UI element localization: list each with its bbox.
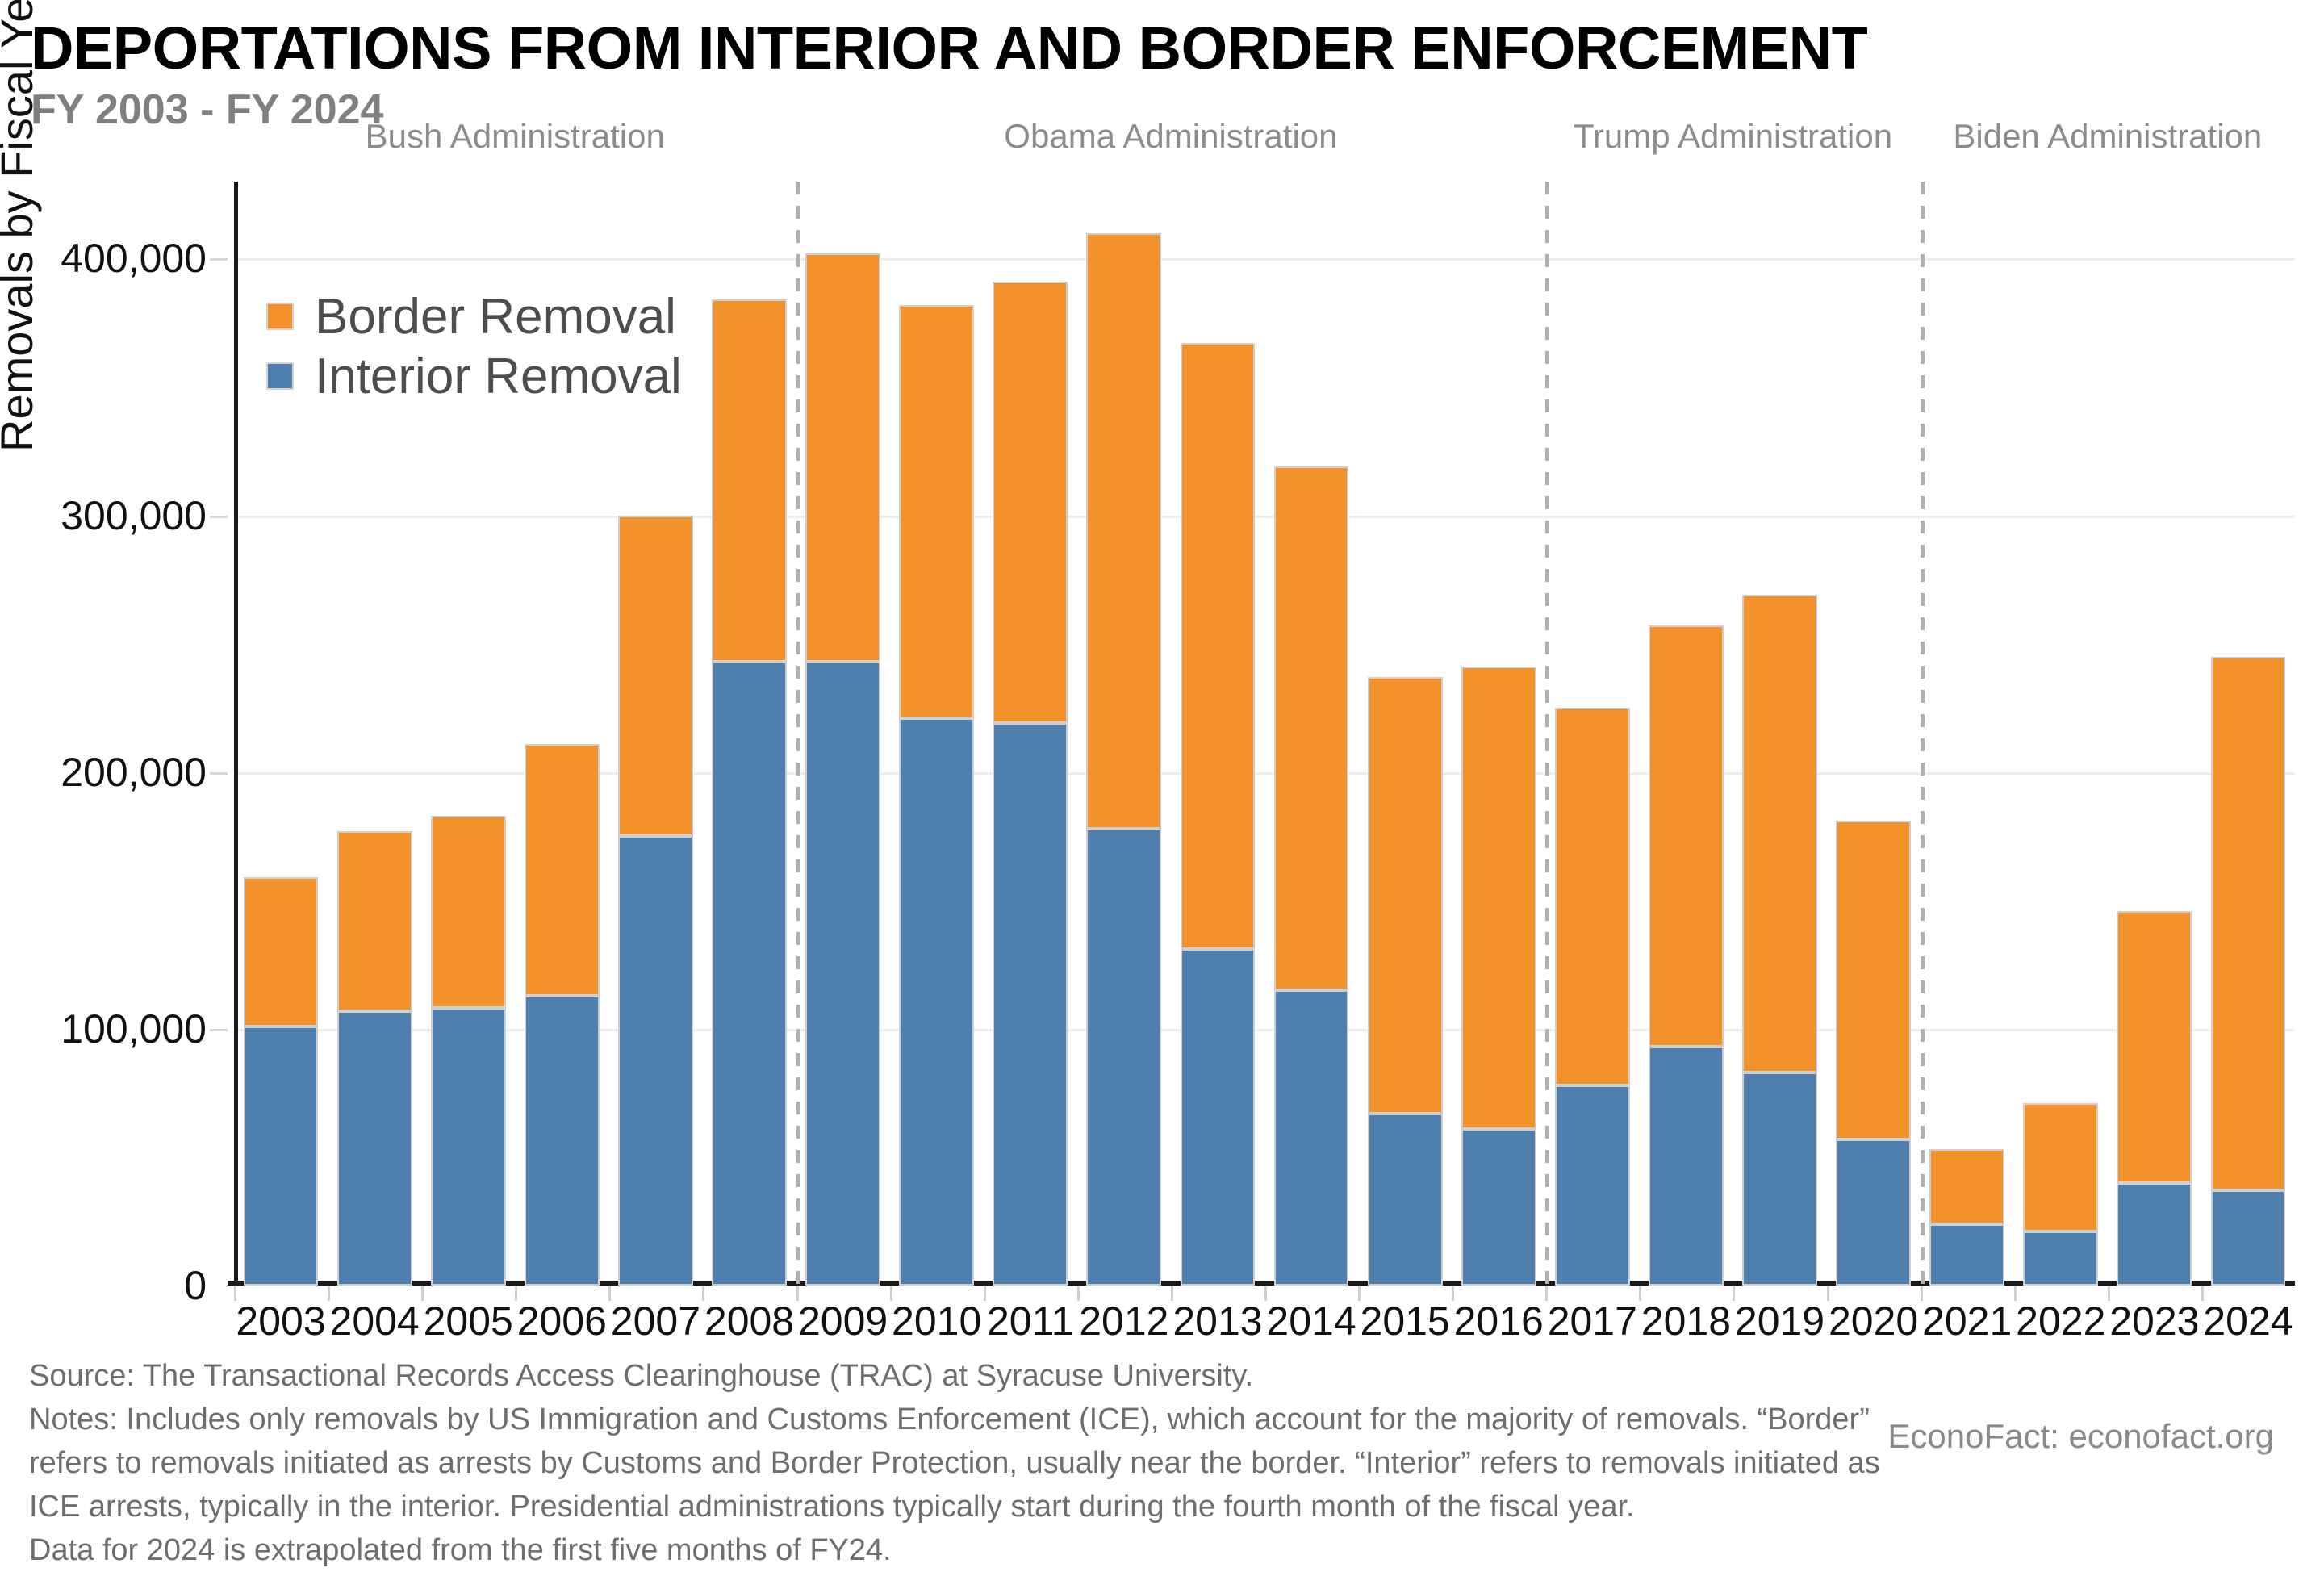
x-axis-tick-mark	[1921, 1286, 1923, 1301]
bar-group-2003[interactable]	[244, 877, 319, 1286]
bar-segment-interior-2007[interactable]	[618, 836, 693, 1286]
bar-group-2009[interactable]	[805, 253, 880, 1286]
bar-segment-interior-2016[interactable]	[1461, 1129, 1536, 1286]
bar-group-2014[interactable]	[1274, 466, 1349, 1286]
legend-item-interior[interactable]: Interior Removal	[266, 346, 682, 406]
bar-segment-interior-2019[interactable]	[1742, 1072, 1817, 1286]
x-axis-label-2008: 2008	[704, 1298, 794, 1344]
bar-segment-border-2021[interactable]	[1929, 1149, 2004, 1223]
bar-segment-border-2023[interactable]	[2117, 911, 2192, 1183]
chart-header: DEPORTATIONS FROM INTERIOR AND BORDER EN…	[31, 15, 2290, 136]
bar-segment-border-2005[interactable]	[431, 816, 506, 1009]
bar-group-2015[interactable]	[1368, 677, 1443, 1286]
x-axis-label-2014: 2014	[1266, 1298, 1356, 1344]
legend-label: Border Removal	[315, 288, 676, 345]
bar-segment-interior-2013[interactable]	[1181, 949, 1256, 1286]
y-axis-tick-mark	[210, 1029, 228, 1031]
x-axis-labels: 2003200420052006200720082009201020112012…	[234, 1298, 2295, 1346]
bar-segment-border-2006[interactable]	[525, 744, 600, 996]
x-axis-tick-mark	[1639, 1286, 1641, 1301]
bar-segment-border-2003[interactable]	[244, 877, 319, 1026]
bar-group-2020[interactable]	[1836, 821, 1911, 1286]
y-axis-title: Removals by Fiscal Year	[0, 0, 43, 452]
x-axis-tick-mark	[1077, 1286, 1080, 1301]
legend-swatch-interior-icon	[266, 362, 294, 390]
page-title: DEPORTATIONS FROM INTERIOR AND BORDER EN…	[31, 15, 2290, 82]
bar-group-2013[interactable]	[1181, 343, 1256, 1286]
y-axis-tick-label: 400,000	[61, 235, 207, 282]
bar-segment-interior-2006[interactable]	[525, 996, 600, 1286]
x-axis-tick-mark	[2108, 1286, 2110, 1301]
bar-segment-border-2007[interactable]	[618, 516, 693, 837]
x-axis-label-2005: 2005	[424, 1298, 513, 1344]
x-axis-label-2017: 2017	[1548, 1298, 1637, 1344]
bar-segment-interior-2015[interactable]	[1368, 1114, 1443, 1286]
bar-segment-border-2011[interactable]	[993, 282, 1068, 723]
bar-group-2023[interactable]	[2117, 911, 2192, 1286]
bar-segment-interior-2021[interactable]	[1929, 1224, 2004, 1286]
x-axis-label-2010: 2010	[892, 1298, 981, 1344]
bar-segment-interior-2011[interactable]	[993, 723, 1068, 1286]
x-axis-tick-mark	[890, 1286, 892, 1301]
x-axis-label-2020: 2020	[1829, 1298, 1918, 1344]
x-axis-label-2007: 2007	[611, 1298, 700, 1344]
bar-group-2005[interactable]	[431, 816, 506, 1286]
x-axis-tick-mark	[1452, 1286, 1454, 1301]
x-axis-label-2009: 2009	[798, 1298, 888, 1344]
bar-group-2022[interactable]	[2023, 1103, 2098, 1286]
x-axis-tick-mark	[1264, 1286, 1267, 1301]
bar-group-2024[interactable]	[2211, 657, 2286, 1286]
bar-group-2008[interactable]	[712, 299, 787, 1286]
x-axis-tick-mark	[421, 1286, 424, 1301]
chart-subtitle: FY 2003 - FY 2024	[31, 84, 2290, 136]
footer-line-1: Source: The Transactional Records Access…	[29, 1354, 1885, 1398]
bar-segment-interior-2017[interactable]	[1555, 1085, 1630, 1286]
bar-segment-interior-2020[interactable]	[1836, 1139, 1911, 1286]
footer-line-3: Data for 2024 is extrapolated from the f…	[29, 1528, 1885, 1572]
bar-segment-border-2009[interactable]	[805, 253, 880, 662]
x-axis-tick-mark	[1171, 1286, 1173, 1301]
y-axis-tick-mark	[210, 258, 228, 261]
x-axis-tick-mark	[702, 1286, 704, 1301]
bar-group-2016[interactable]	[1461, 667, 1536, 1286]
bar-group-2012[interactable]	[1086, 233, 1161, 1286]
bar-segment-interior-2010[interactable]	[899, 718, 974, 1286]
x-axis-label-2015: 2015	[1361, 1298, 1450, 1344]
bar-segment-interior-2008[interactable]	[712, 662, 787, 1286]
bar-segment-interior-2005[interactable]	[431, 1008, 506, 1286]
bar-group-2011[interactable]	[993, 282, 1068, 1286]
legend-swatch-border-icon	[266, 303, 294, 330]
x-axis-label-2013: 2013	[1172, 1298, 1262, 1344]
footer-notes: Source: The Transactional Records Access…	[29, 1354, 1885, 1572]
x-axis-label-2024: 2024	[2203, 1298, 2293, 1344]
bar-segment-border-2013[interactable]	[1181, 343, 1256, 949]
bar-group-2007[interactable]	[618, 516, 693, 1286]
x-axis-tick-mark	[1545, 1286, 1548, 1301]
bar-group-2006[interactable]	[525, 744, 600, 1286]
legend-label: Interior Removal	[315, 348, 682, 405]
x-axis-label-2016: 2016	[1454, 1298, 1544, 1344]
y-axis-tick-mark	[210, 516, 228, 518]
x-axis-label-2018: 2018	[1641, 1298, 1731, 1344]
x-axis-tick-mark	[608, 1286, 611, 1301]
bar-segment-interior-2018[interactable]	[1649, 1047, 1724, 1286]
footer-line-2: Notes: Includes only removals by US Immi…	[29, 1398, 1885, 1528]
bar-group-2004[interactable]	[337, 831, 412, 1286]
bar-segment-border-2017[interactable]	[1555, 708, 1630, 1085]
x-axis-tick-mark	[1358, 1286, 1361, 1301]
x-axis-label-2006: 2006	[517, 1298, 607, 1344]
x-axis-label-2021: 2021	[1922, 1298, 2012, 1344]
bar-segment-interior-2023[interactable]	[2117, 1183, 2192, 1286]
x-axis-label-2012: 2012	[1079, 1298, 1168, 1344]
bar-segment-border-2012[interactable]	[1086, 233, 1161, 829]
bar-segment-border-2019[interactable]	[1742, 595, 1817, 1072]
bar-segment-border-2020[interactable]	[1836, 821, 1911, 1139]
bar-group-2017[interactable]	[1555, 708, 1630, 1286]
chart-legend: Border RemovalInterior Removal	[266, 286, 682, 406]
x-axis-label-2011: 2011	[987, 1298, 1074, 1344]
bar-segment-interior-2012[interactable]	[1086, 829, 1161, 1286]
x-axis-label-2004: 2004	[330, 1298, 420, 1344]
bar-segment-border-2016[interactable]	[1461, 667, 1536, 1129]
bar-group-2021[interactable]	[1929, 1149, 2004, 1286]
x-axis-label-2019: 2019	[1735, 1298, 1825, 1344]
bar-segment-border-2014[interactable]	[1274, 466, 1349, 990]
bar-segment-border-2022[interactable]	[2023, 1103, 2098, 1231]
y-axis-tick-label: 100,000	[61, 1005, 207, 1052]
y-axis-tick-label: 0	[184, 1262, 207, 1309]
x-axis-tick-mark	[2014, 1286, 2017, 1301]
bar-group-2010[interactable]	[899, 305, 974, 1286]
bar-segment-interior-2003[interactable]	[244, 1026, 319, 1286]
bar-segment-border-2010[interactable]	[899, 305, 974, 718]
bar-group-2018[interactable]	[1649, 625, 1724, 1286]
x-axis-tick-mark	[234, 1286, 236, 1301]
bar-segment-interior-2009[interactable]	[805, 662, 880, 1286]
y-axis-tick-label: 200,000	[61, 749, 207, 796]
bar-segment-interior-2022[interactable]	[2023, 1231, 2098, 1286]
x-axis-tick-mark	[1733, 1286, 1735, 1301]
x-axis-tick-mark	[515, 1286, 517, 1301]
x-axis-label-2003: 2003	[236, 1298, 325, 1344]
x-axis-tick-mark	[1827, 1286, 1829, 1301]
bar-segment-border-2015[interactable]	[1368, 677, 1443, 1114]
x-axis-label-2023: 2023	[2109, 1298, 2199, 1344]
attribution-label: EconoFact: econofact.org	[1887, 1417, 2274, 1456]
bar-segment-border-2004[interactable]	[337, 831, 412, 1011]
x-axis-label-2022: 2022	[2016, 1298, 2105, 1344]
y-axis-tick-mark	[210, 772, 228, 775]
x-axis-tick-mark	[796, 1286, 799, 1301]
legend-item-border[interactable]: Border Removal	[266, 286, 682, 346]
x-axis-tick-mark	[984, 1286, 986, 1301]
bar-segment-border-2008[interactable]	[712, 299, 787, 662]
bar-segment-interior-2004[interactable]	[337, 1011, 412, 1286]
bar-segment-interior-2024[interactable]	[2211, 1190, 2286, 1286]
bar-group-2019[interactable]	[1742, 595, 1817, 1286]
bar-segment-border-2018[interactable]	[1649, 625, 1724, 1047]
x-axis-tick-mark	[2201, 1286, 2204, 1301]
bar-segment-border-2024[interactable]	[2211, 657, 2286, 1191]
x-axis-tick-mark	[328, 1286, 330, 1301]
bar-segment-interior-2014[interactable]	[1274, 990, 1349, 1286]
y-axis-tick-label: 300,000	[61, 492, 207, 539]
